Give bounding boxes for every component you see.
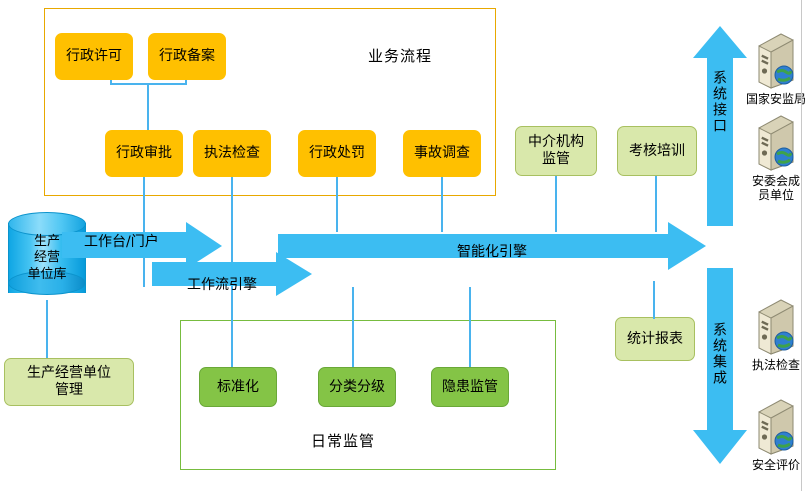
external-system-safety-evaluation-label: 安全评价 [740,459,810,473]
node-admin-license-label: 行政许可 [66,48,122,65]
node-agency-supervision[interactable]: 中介机构 监管 [515,126,597,176]
node-accident-investigation-label: 事故调查 [414,145,470,162]
node-admin-approval-label: 行政审批 [116,145,172,162]
connector-db-to-management [46,300,48,358]
node-law-inspection[interactable]: 执法检查 [193,130,271,177]
node-hazard-supervision[interactable]: 隐患监管 [431,367,509,407]
external-system-national-safety-bureau-label: 国家安监局 [740,93,810,107]
arrow-system-integration-label: 系统集成 [712,322,726,386]
server-icon [753,396,799,458]
node-law-inspection-label: 执法检查 [204,145,260,162]
server-icon [753,112,799,174]
arrow-system-interface-label: 系统接口 [712,70,726,134]
node-classification-grading-label: 分类分级 [329,379,385,396]
external-system-safety-committee-members-label: 安委会成 员单位 [740,175,810,203]
node-admin-filing[interactable]: 行政备案 [148,33,226,80]
node-statistic-report-label: 统计报表 [627,331,683,348]
connector-bracket-to-approval [147,83,149,130]
node-standardization-label: 标准化 [217,379,259,396]
node-admin-filing-label: 行政备案 [159,48,215,65]
diagram-canvas: 业务流程 行政许可 行政备案 行政审批 执法检查 行政处罚 事故调查 中介机构 … [0,0,810,491]
connector-classification-up [352,287,354,367]
node-classification-grading[interactable]: 分类分级 [318,367,396,407]
external-system-safety-evaluation[interactable]: 安全评价 [740,396,810,473]
node-accident-investigation[interactable]: 事故调查 [403,130,481,177]
node-production-unit-management[interactable]: 生产经营单位 管理 [4,358,134,406]
arrow-workflow-engine-label: 工作流引擎 [187,274,257,294]
node-admin-approval[interactable]: 行政审批 [105,130,183,177]
node-admin-license[interactable]: 行政许可 [55,33,133,80]
daily-supervision-title: 日常监管 [311,430,375,451]
node-admin-penalty[interactable]: 行政处罚 [298,130,376,177]
external-system-national-safety-bureau[interactable]: 国家安监局 [740,30,810,107]
external-system-law-enforcement-inspection-label: 执法检查 [740,359,810,373]
business-process-title: 业务流程 [368,45,432,66]
connector-standardization-up [231,287,233,367]
node-hazard-supervision-label: 隐患监管 [442,379,498,396]
node-agency-supervision-label: 中介机构 监管 [528,134,584,167]
right-edge-divider [801,0,802,491]
node-admin-penalty-label: 行政处罚 [309,145,365,162]
database-label: 生产 经营 单位库 [8,234,86,283]
server-icon [753,296,799,358]
node-statistic-report[interactable]: 统计报表 [615,317,695,361]
node-assessment-training[interactable]: 考核培训 [617,126,697,176]
node-standardization[interactable]: 标准化 [199,367,277,407]
node-assessment-training-label: 考核培训 [629,143,685,160]
node-production-unit-management-label: 生产经营单位 管理 [27,365,111,398]
server-icon [753,30,799,92]
arrow-intelligent-engine-label: 智能化引擎 [457,241,527,261]
connector-hazard-up [469,287,471,367]
external-system-safety-committee-members[interactable]: 安委会成 员单位 [740,112,810,203]
external-system-law-enforcement-inspection[interactable]: 执法检查 [740,296,810,373]
arrow-workbench-portal-label: 工作台/门户 [84,231,159,251]
